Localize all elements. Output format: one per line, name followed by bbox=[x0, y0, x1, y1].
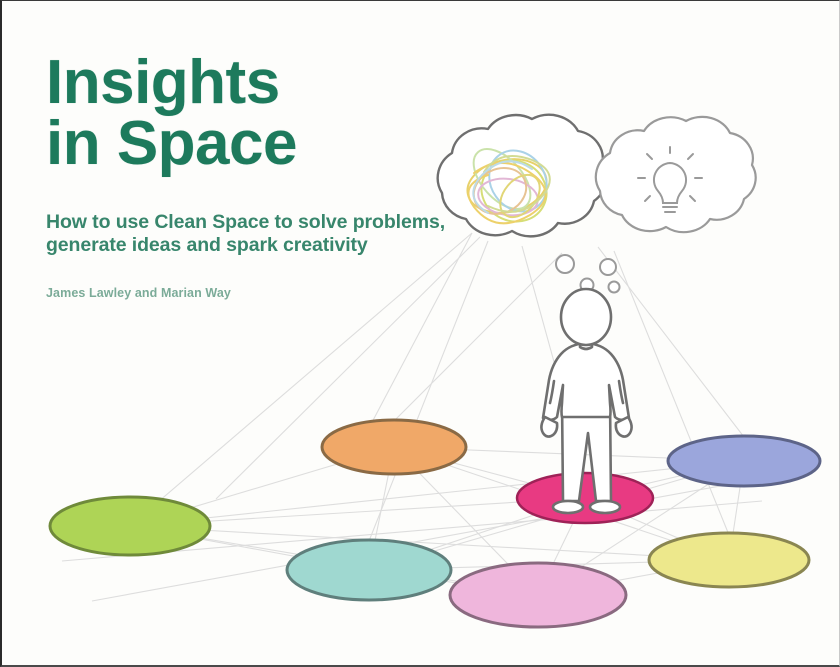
cover-subtitle: How to use Clean Space to solve problems… bbox=[46, 211, 456, 259]
cover-authors: James Lawley and Marian Way bbox=[46, 286, 486, 300]
idea-bubble bbox=[596, 117, 756, 232]
page-title: Insights in Space bbox=[46, 53, 486, 175]
yellow-space bbox=[649, 533, 809, 587]
spaces-group bbox=[50, 420, 820, 627]
book-cover: Insights in Space How to use Clean Space… bbox=[0, 0, 840, 667]
subtitle-emphasis: Clean Space bbox=[154, 211, 269, 233]
orange-space bbox=[322, 420, 466, 474]
subtitle-prefix: How to use bbox=[46, 211, 154, 233]
teal-space bbox=[287, 540, 451, 600]
green-space bbox=[50, 497, 210, 555]
cover-text-block: Insights in Space How to use Clean Space… bbox=[46, 53, 486, 300]
magenta-space bbox=[517, 473, 653, 523]
pink-space bbox=[450, 563, 626, 627]
periwinkle-space bbox=[668, 436, 820, 486]
